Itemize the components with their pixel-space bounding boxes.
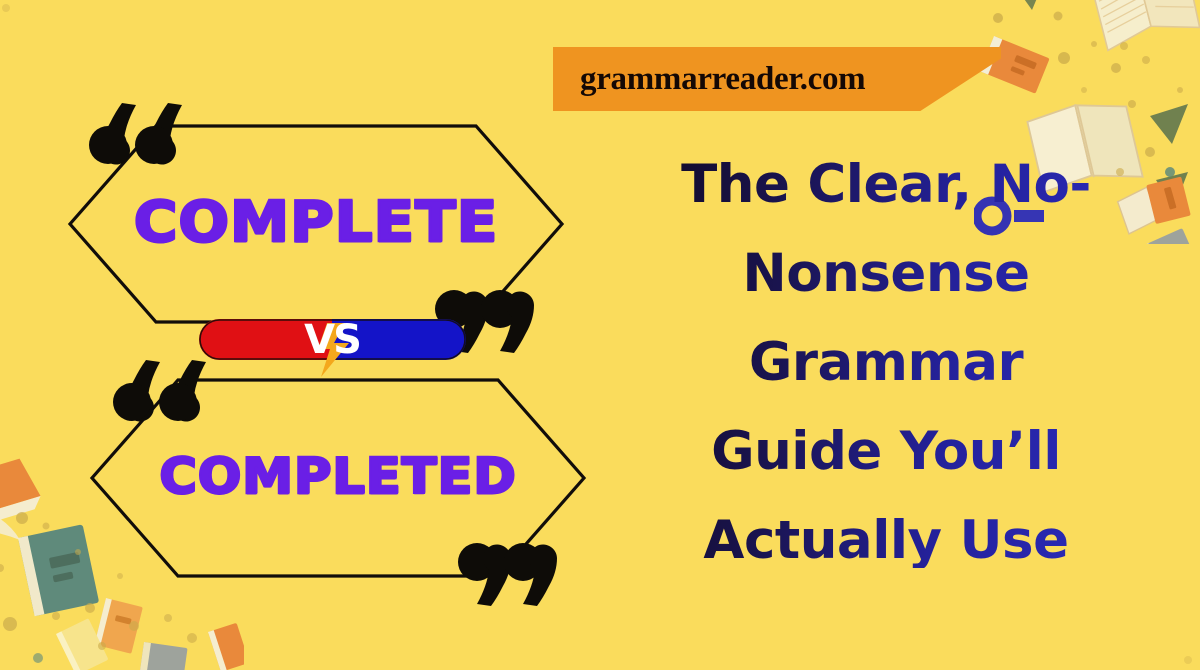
headline: The Clear, No- Nonsense Grammar Guide Yo… xyxy=(652,158,1120,568)
site-banner: grammarreader.com xyxy=(553,47,1001,111)
open-quote-icon-complete xyxy=(88,101,180,173)
headline-line-5: Actually Use xyxy=(652,514,1120,568)
headline-line-2: Nonsense xyxy=(652,247,1120,301)
poster-canvas: grammarreader.com COMPLETE xyxy=(0,0,1200,670)
vs-separator: VS xyxy=(199,319,466,360)
headline-line-4: Guide You’ll xyxy=(652,425,1120,479)
vs-label: VS xyxy=(304,317,360,363)
close-quote-icon-completed xyxy=(455,540,547,612)
headline-line-1: The Clear, No- xyxy=(652,158,1120,212)
comparison-zone: COMPLETE xyxy=(0,0,610,670)
open-quote-icon-completed xyxy=(112,358,204,430)
books-decoration-bottom-right xyxy=(1124,604,1200,670)
headline-line-3: Grammar xyxy=(652,336,1120,390)
